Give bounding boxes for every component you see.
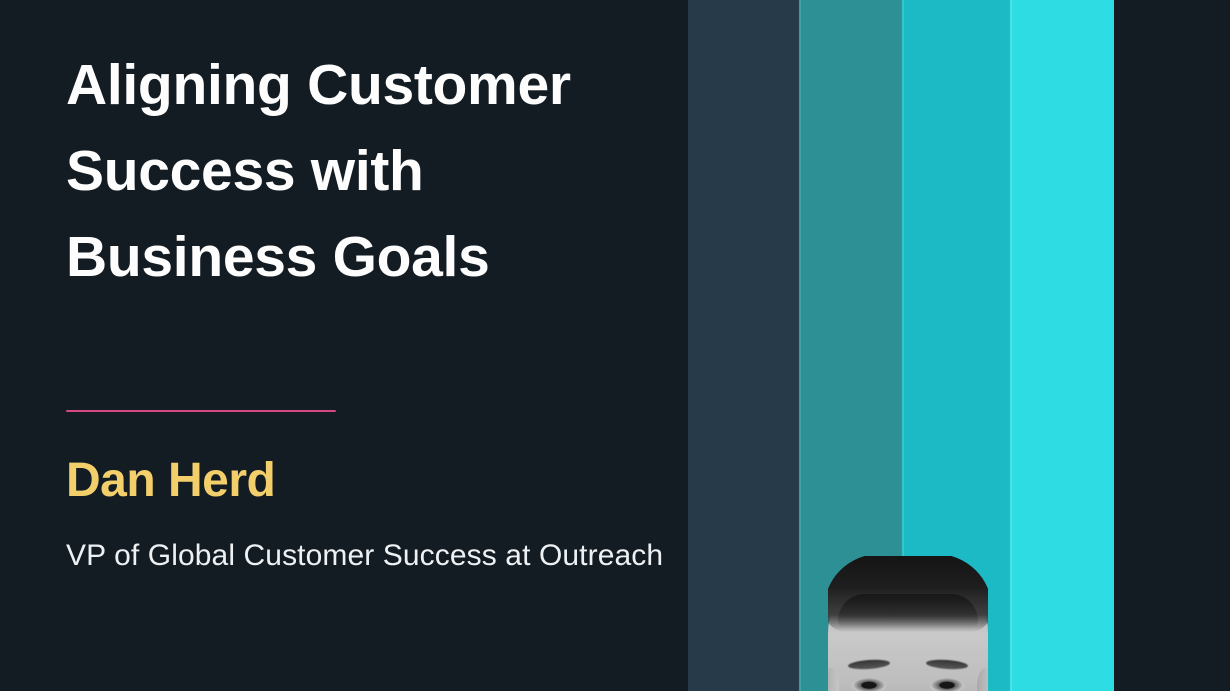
- headshot-brow-right: [926, 659, 969, 671]
- headshot-eye-right: [930, 678, 964, 691]
- stripe-seam-highlight: [798, 0, 801, 691]
- speaker-headshot: [828, 556, 988, 691]
- speaker-name: Dan Herd: [66, 452, 275, 510]
- accent-divider: [66, 410, 336, 412]
- slide-title: Aligning Customer Success with Business …: [66, 42, 666, 300]
- headshot-ear-left: [828, 668, 839, 691]
- text-column: Aligning Customer Success with Business …: [66, 0, 666, 691]
- headshot-ear-right: [977, 668, 988, 691]
- stripe-cyan-bright: [1010, 0, 1114, 691]
- headshot-eye-left: [852, 678, 886, 691]
- speaker-role: VP of Global Customer Success at Outreac…: [66, 531, 666, 580]
- stripe-slate: [688, 0, 799, 691]
- title-slide: Aligning Customer Success with Business …: [0, 0, 1230, 691]
- headshot-brow-left: [848, 659, 891, 671]
- stripe-seam-highlight: [1009, 0, 1012, 691]
- headshot-hair: [828, 556, 988, 632]
- headshot-face: [828, 556, 988, 691]
